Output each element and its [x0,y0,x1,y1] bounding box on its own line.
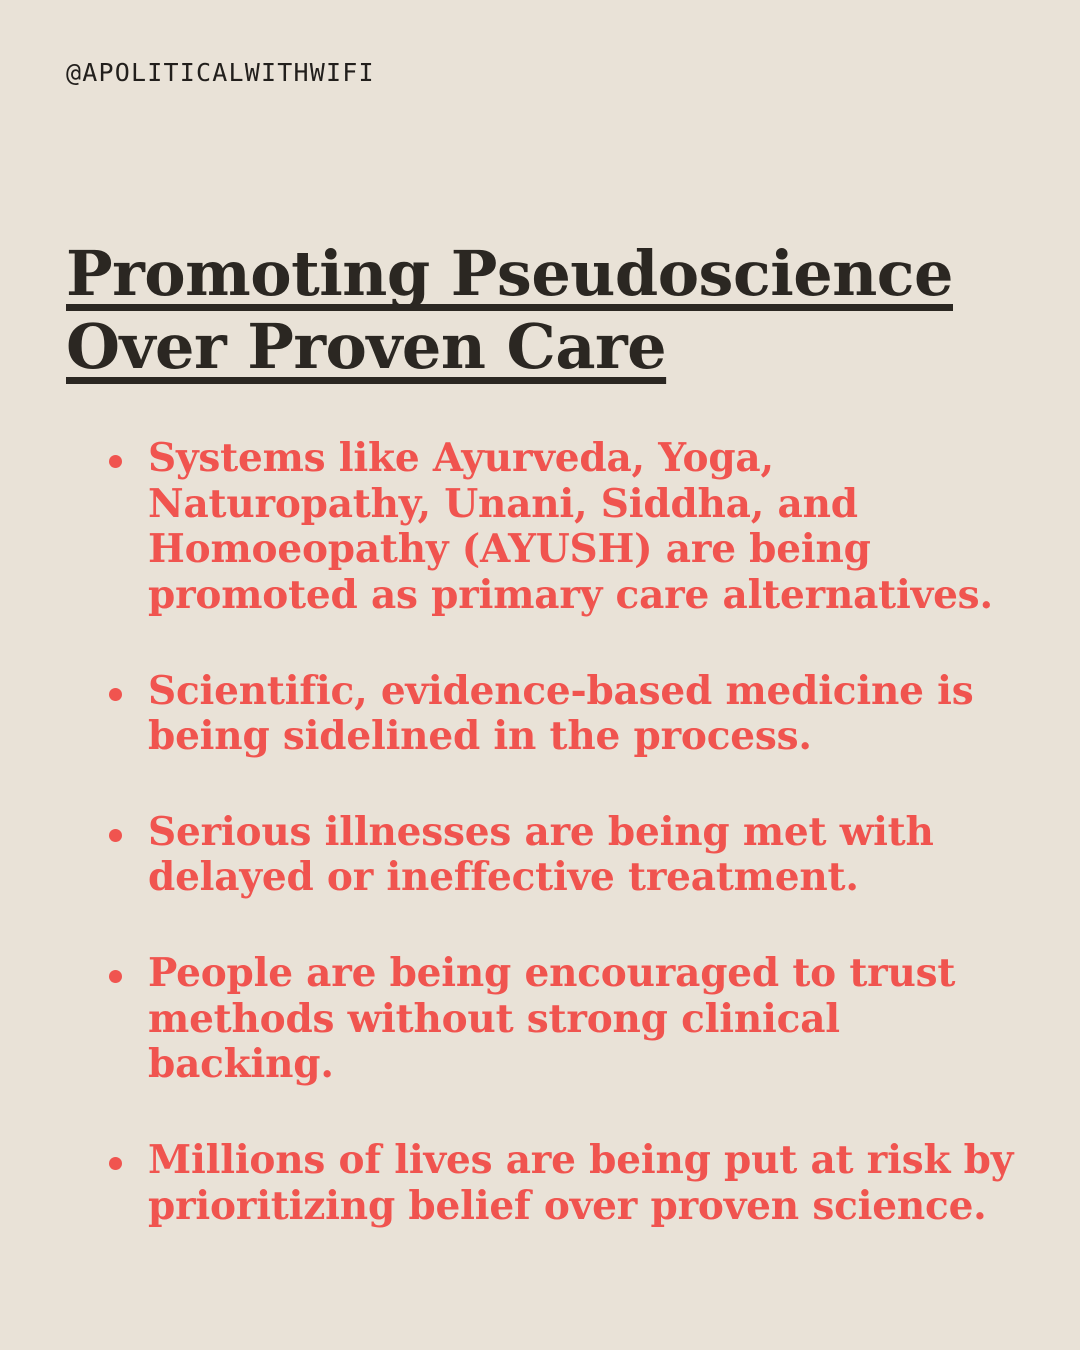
list-item-label: Millions of lives are being put at risk … [148,1138,1030,1229]
list-item-label: People are being encouraged to trust met… [148,951,1030,1088]
list-item-label: Systems like Ayurveda, Yoga, Naturopathy… [148,436,1030,619]
account-handle: @APOLITICALWITHWIFI [66,58,375,87]
bullet-dot-icon [109,829,122,842]
bullet-list: Systems like Ayurveda, Yoga, Naturopathy… [100,436,1030,1229]
bullet-dot-icon [109,970,122,983]
poster-canvas: @APOLITICALWITHWIFI Promoting Pseudoscie… [0,0,1080,1350]
bullet-dot-icon [109,455,122,468]
title-block: Promoting Pseudoscience Over Proven Care [66,238,1026,383]
bullet-dot-icon [109,1157,122,1170]
bullet-dot-icon [109,688,122,701]
list-item: Scientific, evidence-based medicine is b… [100,669,1030,760]
page-title: Promoting Pseudoscience Over Proven Care [66,238,1026,383]
list-item-label: Serious illnesses are being met with del… [148,810,1030,901]
list-item-label: Scientific, evidence-based medicine is b… [148,669,1030,760]
list-item: People are being encouraged to trust met… [100,951,1030,1088]
list-item: Millions of lives are being put at risk … [100,1138,1030,1229]
list-item: Systems like Ayurveda, Yoga, Naturopathy… [100,436,1030,619]
list-item: Serious illnesses are being met with del… [100,810,1030,901]
